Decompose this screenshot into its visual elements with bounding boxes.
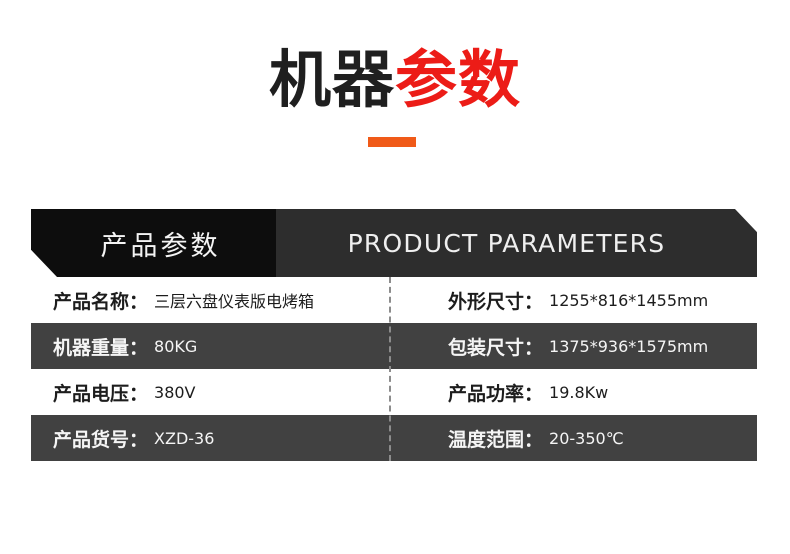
spec-rows: 产品名称： 三层六盘仪表版电烤箱 外形尺寸： 1255*816*1455mm 机…	[31, 277, 757, 461]
spec-value: 20-350℃	[549, 429, 624, 448]
spec-value: 380V	[154, 383, 195, 402]
spec-cell-left: 机器重量： 80KG	[31, 323, 394, 369]
spec-key: 温度范围：	[448, 425, 543, 452]
spec-header-bar: 产品参数 PRODUCT PARAMETERS	[31, 209, 757, 277]
page-title-accent-segment: 参数	[395, 43, 521, 116]
table-row: 机器重量： 80KG 包装尺寸： 1375*936*1575mm	[31, 323, 757, 369]
spec-key: 外形尺寸：	[448, 287, 543, 314]
spec-key: 产品名称：	[53, 287, 148, 314]
spec-key: 包装尺寸：	[448, 333, 543, 360]
spec-key: 产品电压：	[53, 379, 148, 406]
spec-value: 19.8Kw	[549, 383, 608, 402]
spec-cell-right: 温度范围： 20-350℃	[394, 415, 757, 461]
spec-header-left-tab: 产品参数	[31, 209, 276, 277]
spec-header-right-tab: PRODUCT PARAMETERS	[276, 209, 757, 277]
table-row: 产品电压： 380V 产品功率： 19.8Kw	[31, 369, 757, 415]
spec-cell-right: 外形尺寸： 1255*816*1455mm	[394, 277, 757, 323]
spec-cell-right: 包装尺寸： 1375*936*1575mm	[394, 323, 757, 369]
spec-cell-left: 产品货号： XZD-36	[31, 415, 394, 461]
page-title-text: 机器参数	[0, 44, 790, 116]
table-row: 产品名称： 三层六盘仪表版电烤箱 外形尺寸： 1255*816*1455mm	[31, 277, 757, 323]
spec-value: XZD-36	[154, 429, 214, 448]
spec-cell-right: 产品功率： 19.8Kw	[394, 369, 757, 415]
product-parameters-card: 产品参数 PRODUCT PARAMETERS 产品名称： 三层六盘仪表版电烤箱…	[31, 209, 757, 461]
spec-value: 1375*936*1575mm	[549, 337, 708, 356]
spec-value: 1255*816*1455mm	[549, 291, 708, 310]
spec-key: 机器重量：	[53, 333, 148, 360]
spec-header-left-label: 产品参数	[87, 224, 221, 263]
spec-value: 80KG	[154, 337, 197, 356]
page-title-dark-segment: 机器	[269, 43, 395, 116]
spec-cell-left: 产品名称： 三层六盘仪表版电烤箱	[31, 277, 394, 323]
table-row: 产品货号： XZD-36 温度范围： 20-350℃	[31, 415, 757, 461]
title-underline-accent	[368, 137, 416, 147]
spec-key: 产品货号：	[53, 425, 148, 452]
spec-header-right-label: PRODUCT PARAMETERS	[348, 229, 666, 258]
spec-cell-left: 产品电压： 380V	[31, 369, 394, 415]
spec-key: 产品功率：	[448, 379, 543, 406]
page-title: 机器参数	[0, 44, 790, 116]
spec-value: 三层六盘仪表版电烤箱	[154, 288, 314, 312]
